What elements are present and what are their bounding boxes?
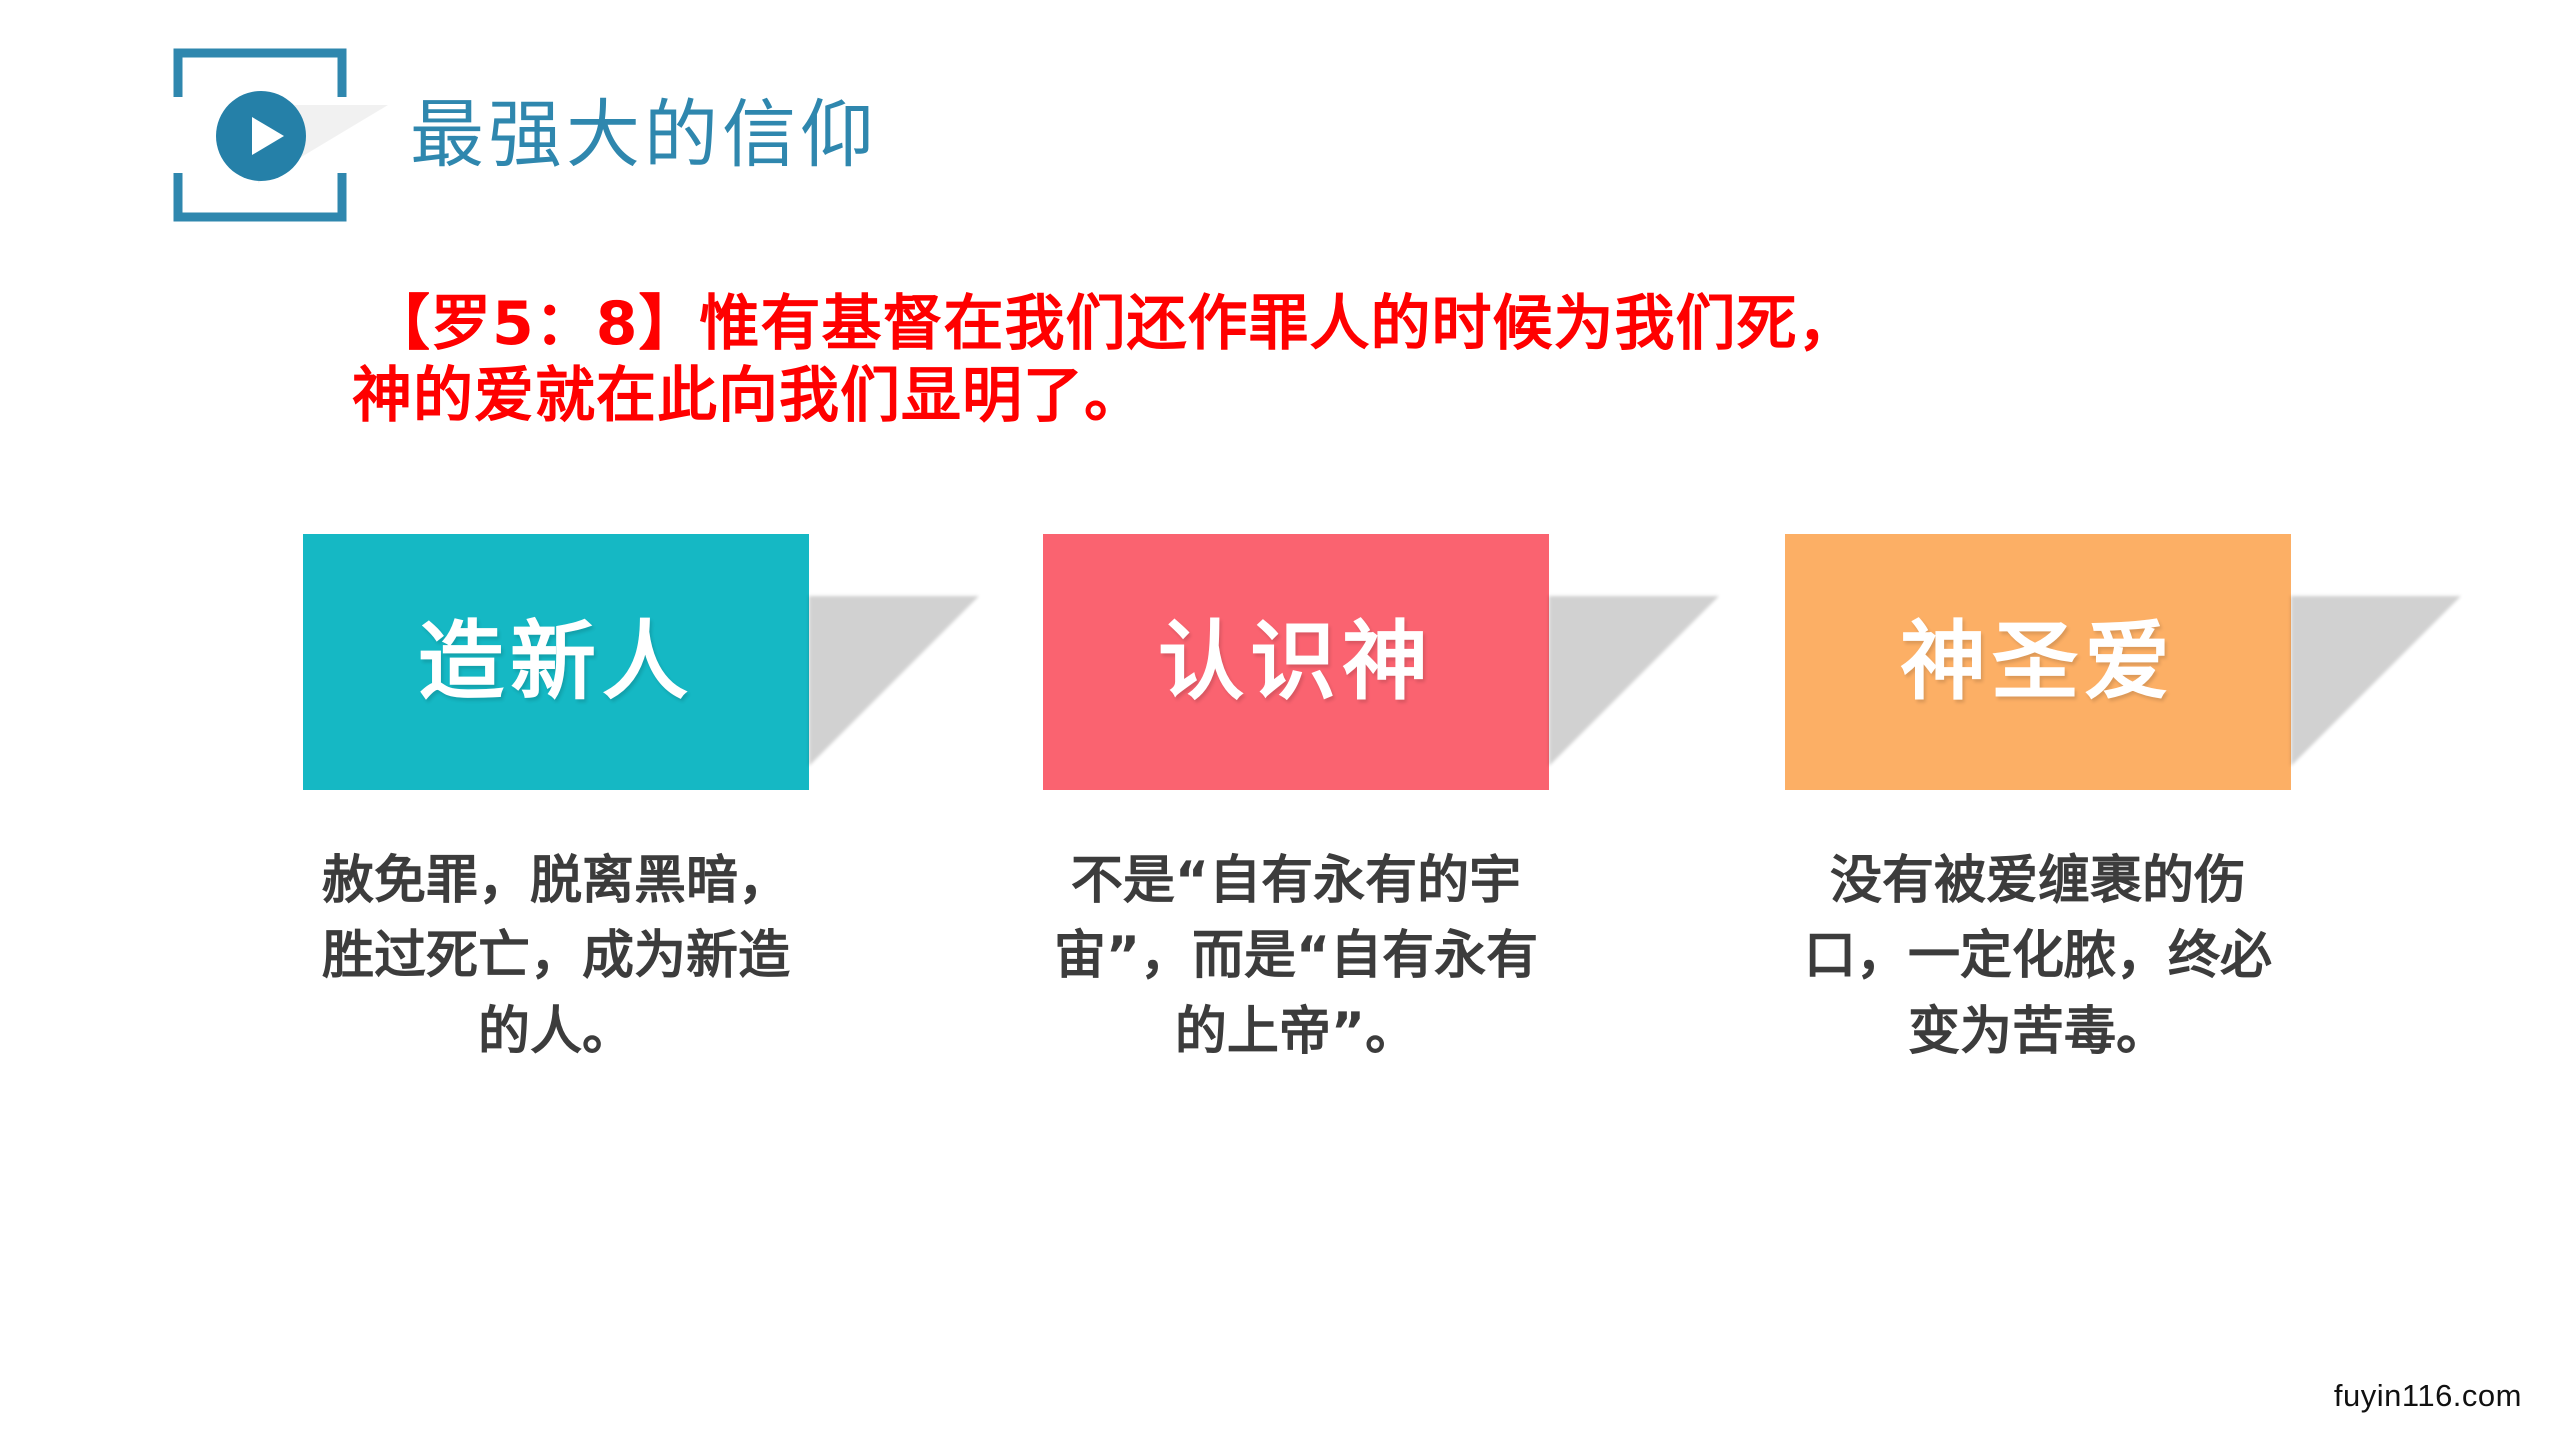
banner-long-shadow <box>809 596 979 766</box>
card-caption: 不是“自有永有的宇宙”，而是“自有永有的上帝”。 <box>1043 844 1549 1070</box>
play-button-icon <box>216 91 306 181</box>
scripture-line-1: 【罗5：8】惟有基督在我们还作罪人的时候为我们死， <box>370 288 2270 360</box>
card-banner: 认识神 <box>1043 534 1549 790</box>
card-caption: 赦免罪，脱离黑暗，胜过死亡，成为新造的人。 <box>303 844 809 1070</box>
card-label: 认识神 <box>1158 619 1434 705</box>
scripture-quote: 【罗5：8】惟有基督在我们还作罪人的时候为我们死， 神的爱就在此向我们显明了。 <box>370 288 2270 432</box>
card-group: 造新人 赦免罪，脱离黑暗，胜过死亡，成为新造的人。 认识神 不是“自有永有的宇宙… <box>0 534 2560 1174</box>
card-caption: 没有被爱缠裹的伤口，一定化脓，终必变为苦毒。 <box>1785 844 2291 1070</box>
card-ren-shi-shen: 认识神 不是“自有永有的宇宙”，而是“自有永有的上帝”。 <box>1043 534 1549 1070</box>
card-label: 神圣爱 <box>1900 619 2176 705</box>
play-triangle-icon <box>252 117 284 155</box>
brand-logo <box>170 45 350 225</box>
banner-long-shadow <box>1549 596 1719 766</box>
banner-long-shadow <box>2291 596 2461 766</box>
card-shen-sheng-ai: 神圣爱 没有被爱缠裹的伤口，一定化脓，终必变为苦毒。 <box>1785 534 2291 1070</box>
slide-header: 最强大的信仰 <box>170 40 878 230</box>
card-zao-xin-ren: 造新人 赦免罪，脱离黑暗，胜过死亡，成为新造的人。 <box>303 534 809 1070</box>
page-title: 最强大的信仰 <box>410 98 878 172</box>
card-banner: 神圣爱 <box>1785 534 2291 790</box>
card-label: 造新人 <box>418 619 694 705</box>
slide-root: 最强大的信仰 【罗5：8】惟有基督在我们还作罪人的时候为我们死， 神的爱就在此向… <box>0 0 2560 1440</box>
site-watermark: fuyin116.com <box>2334 1378 2522 1414</box>
scripture-line-2: 神的爱就在此向我们显明了。 <box>352 360 2270 432</box>
card-banner: 造新人 <box>303 534 809 790</box>
